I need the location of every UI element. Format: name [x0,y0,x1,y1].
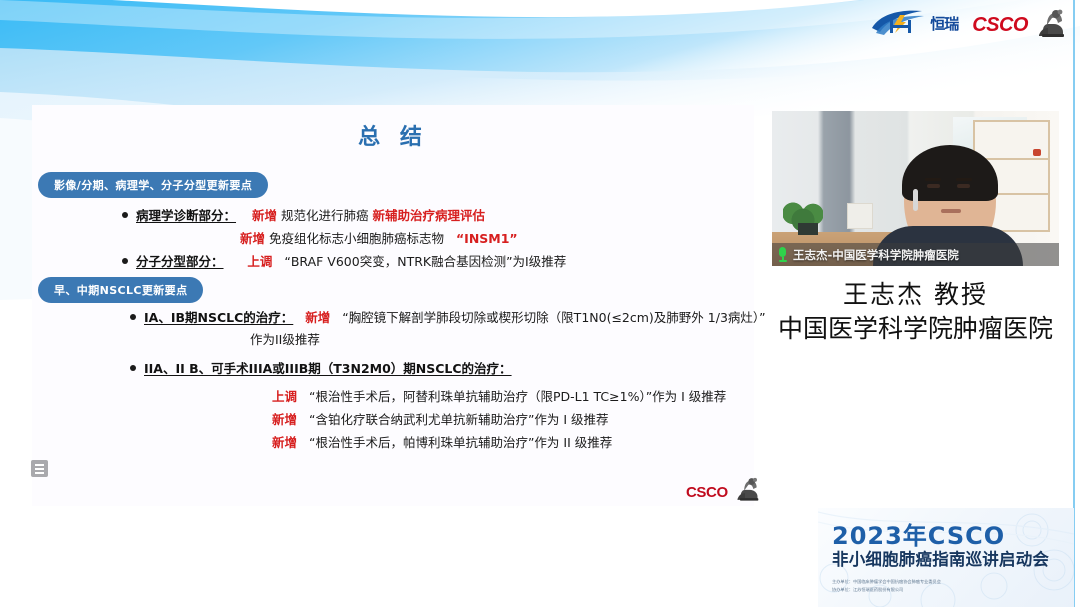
csco-lion-statue-icon [730,477,760,501]
presenter-name: 王志杰 教授 [772,278,1059,312]
video-person-brow-left [925,178,941,181]
sub-line-nivolumab: 新增 “含铂化疗联合纳武利尤单抗新辅助治疗”作为 I 级推荐 [272,410,609,429]
banner-organizer-line2: 协办单位：江苏恒瑞医药股份有限公司 [832,586,1066,594]
hengrui-mark-icon [870,8,928,38]
section-pill-early-mid-nsclc: 早、中期NSCLC更新要点 [38,277,203,303]
participant-name-text: 王志杰-中国医学科学院肿瘤医院 [793,247,959,263]
header-logos: 恒瑞 CSCO [870,8,1066,38]
video-pot-decor [798,223,818,235]
csco-lion-statue-icon [1030,9,1066,37]
video-trinket-decor [1033,149,1041,156]
live-stream-screen: 恒瑞 CSCO 总 结 影像/分期、病理学、分子分型更新要点 病理学诊断部分： [0,0,1080,607]
csco-logo: CSCO [972,9,1066,37]
video-earbud-decor [913,189,918,211]
sub-line-tag: 上调 [272,389,297,404]
hengrui-logo-text: 恒瑞 [930,13,958,34]
continuation-text: 作为II级推荐 [250,332,320,347]
bullet-body-highlight: 新辅助治疗病理评估 [372,208,485,223]
bullet-head: 分子分型部分： [136,254,224,269]
event-banner: 2023年CSCO 非小细胞肺癌指南巡讲启动会 主办单位：中国临床肿瘤学会中国抗… [818,508,1074,607]
list-view-icon[interactable] [31,460,48,477]
video-person-brow-right [956,178,972,181]
bullet-body: 规范化进行肺癌 [281,208,369,223]
slide-footer-csco-logo: CSCO [686,477,760,501]
section-pill-imaging-pathology: 影像/分期、病理学、分子分型更新要点 [38,172,268,198]
banner-title-line2: 非小细胞肺癌指南巡讲启动会 [832,549,1066,570]
list-line [35,464,44,466]
participant-name-badge: 王志杰-中国医学科学院肿瘤医院 [772,243,1059,266]
hengrui-logo: 恒瑞 [870,8,958,38]
bullet-head: 病理学诊断部分： [136,208,236,223]
csco-logo-text: CSCO [972,14,1028,37]
participant-video-tile[interactable]: 王志杰-中国医学科学院肿瘤医院 [772,111,1059,266]
bullet-ia-ib-treatment: IA、IB期NSCLC的治疗： 新增 “胸腔镜下解剖学肺段切除或楔形切除（限T1… [130,308,766,327]
sub-line-atezolizumab: 上调 “根治性手术后，阿替利珠单抗辅助治疗（限PD-L1 TC≥1%）”作为 I… [272,387,726,406]
continuation-tag: 新增 [240,231,265,246]
bullet-pathology-continuation: 新增 免疫组化标志小细胞肺癌标志物 “INSM1” [240,229,518,248]
bullet-dot-icon [122,212,128,218]
list-line [35,472,44,474]
list-line [35,468,44,470]
bullet-iia-iib-treatment: IIA、II B、可手术IIIA或IIIB期（T3N2M0）期NSCLC的治疗： [130,359,512,378]
banner-title-line1: 2023年CSCO [832,524,1066,549]
bullet-head: IIA、II B、可手术IIIA或IIIB期（T3N2M0）期NSCLC的治疗： [144,359,512,378]
sub-line-text: “根治性手术后，阿替利珠单抗辅助治疗（限PD-L1 TC≥1%）”作为 I 级推… [309,389,726,404]
bullet-ia-ib-continuation: 作为II级推荐 [250,330,320,349]
slide-title: 总 结 [32,119,754,151]
bullet-dot-icon [130,365,136,371]
sub-line-tag: 新增 [272,412,297,427]
banner-organizer-line1: 主办单位：中国临床肿瘤学会中国抗癌协会肺癌专业委员会 [832,578,1066,586]
slide-footer-csco-text: CSCO [686,484,728,501]
bullet-tag: 新增 [305,310,330,325]
sub-line-text: “含铂化疗联合纳武利尤单抗新辅助治疗”作为 I 级推荐 [309,412,609,427]
video-box-decor [847,203,873,229]
bullet-dot-icon [122,258,128,264]
continuation-quote: “INSM1” [456,231,518,246]
bullet-body: “BRAF V600突变，NTRK融合基因检测”为I级推荐 [284,254,566,269]
bullet-tag: 新增 [252,208,277,223]
presenter-affiliation: 中国医学科学院肿瘤医院 [772,312,1059,346]
sub-line-tag: 新增 [272,435,297,450]
bullet-tag: 上调 [247,254,272,269]
video-person-eye-right [957,184,970,188]
video-person-eye-left [927,184,940,188]
presenter-caption: 王志杰 教授 中国医学科学院肿瘤医院 [772,278,1059,346]
microphone-icon[interactable] [778,247,787,262]
bullet-pathology-diagnosis: 病理学诊断部分： 新增 规范化进行肺癌 新辅助治疗病理评估 [122,206,485,225]
bullet-dot-icon [130,314,136,320]
sub-line-text: “根治性手术后，帕博利珠单抗辅助治疗”作为 II 级推荐 [309,435,612,450]
continuation-text: 免疫组化标志小细胞肺癌标志物 [269,231,444,246]
bullet-head: IA、IB期NSCLC的治疗： [144,310,293,325]
video-person-mouth [941,209,961,213]
bullet-body: “胸腔镜下解剖学肺段切除或楔形切除（限T1N0(≤2cm)及肺野外 1/3病灶）… [342,310,765,325]
bullet-molecular-subtyping: 分子分型部分： 上调 “BRAF V600突变，NTRK融合基因检测”为I级推荐 [122,252,566,271]
sub-line-pembrolizumab: 新增 “根治性手术后，帕博利珠单抗辅助治疗”作为 II 级推荐 [272,433,612,452]
